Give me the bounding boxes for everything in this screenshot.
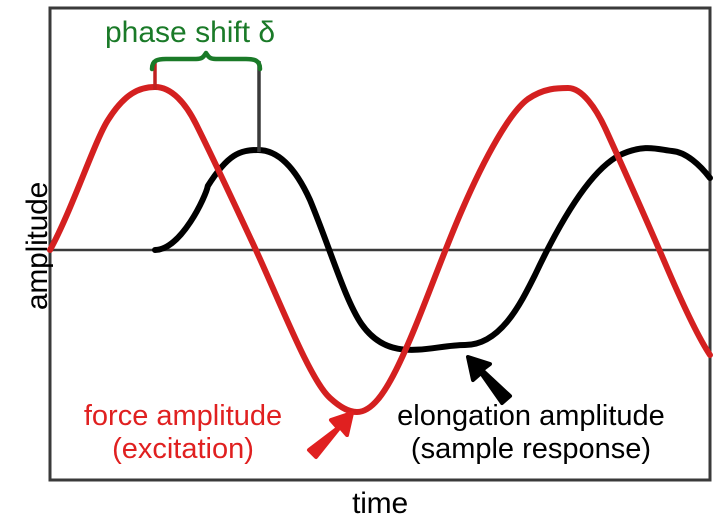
y-axis-label: amplitude — [21, 146, 55, 346]
force-amplitude-label: force amplitude (excitation) — [62, 400, 304, 466]
elongation-amplitude-line2: (sample response) — [382, 433, 680, 466]
elongation-amplitude-line1: elongation amplitude — [382, 400, 680, 433]
force-amplitude-line1: force amplitude — [62, 400, 304, 433]
elongation-amplitude-label: elongation amplitude (sample response) — [382, 400, 680, 466]
force-amplitude-line2: (excitation) — [62, 433, 304, 466]
phase-shift-label: phase shift δ — [105, 16, 275, 49]
figure-canvas: amplitude time phase shift δ force ampli… — [0, 0, 720, 527]
x-axis-label: time — [50, 487, 710, 521]
